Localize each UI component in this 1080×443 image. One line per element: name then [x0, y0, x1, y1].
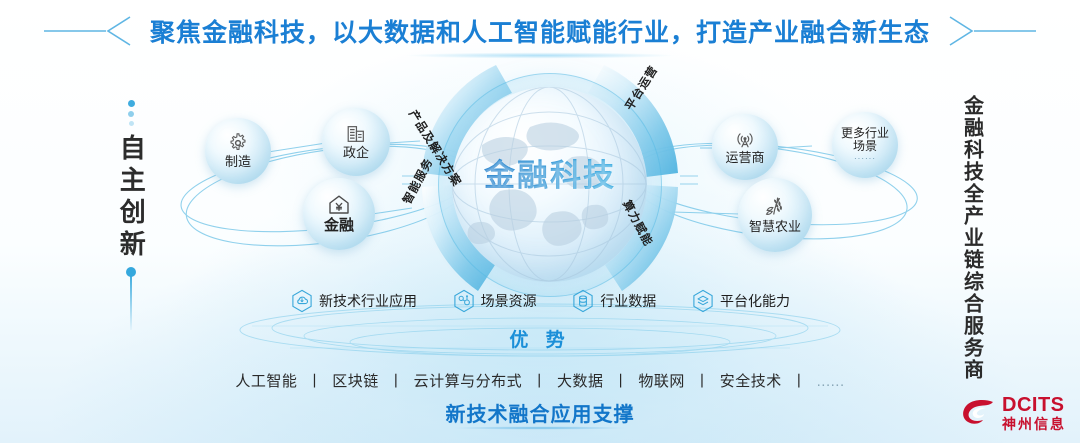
building-icon [345, 123, 367, 145]
tech-item: 人工智能 [235, 373, 297, 390]
industry-bubble-manufacture[interactable]: 制造 [205, 118, 271, 184]
cloud-hex-icon [290, 289, 314, 313]
separator: 丨 [791, 373, 807, 390]
separator: 丨 [532, 373, 548, 390]
tech-item: 大数据 [557, 373, 604, 390]
industry-label: 政企 [343, 146, 369, 160]
dcits-swoosh-icon [962, 398, 996, 428]
foundation-caption: 新技术融合应用支撑 [0, 398, 1080, 427]
wheat-icon [763, 195, 787, 219]
foundation-glow-underline [430, 426, 650, 430]
separator: 丨 [388, 373, 404, 390]
logo-cn-text: 神州信息 [1002, 417, 1066, 431]
industry-bubble-more[interactable]: 更多行业场景 ······ [832, 112, 898, 178]
industry-label: 更多行业场景 [837, 127, 893, 153]
bank-icon [327, 193, 351, 217]
industry-label: 金融 [324, 218, 354, 235]
tech-item: 安全技术 [720, 373, 782, 390]
industry-bubble-government[interactable]: 政企 [322, 108, 390, 176]
layers-hex-icon [691, 289, 715, 313]
separator: 丨 [307, 373, 323, 390]
logo-en-text: DCITS [1002, 395, 1066, 415]
tech-item: 区块链 [332, 373, 379, 390]
capability-row: 新技术行业应用 场景资源 [290, 286, 790, 316]
capability-label: 平台化能力 [720, 291, 790, 311]
separator: 丨 [695, 373, 711, 390]
capability-label: 场景资源 [481, 291, 537, 311]
capability-label: 行业数据 [600, 291, 656, 311]
signal-tower-icon [734, 128, 756, 150]
industry-label: 智慧农业 [749, 220, 801, 234]
database-hex-icon [571, 289, 595, 313]
industry-bubble-operator[interactable]: 运营商 [712, 114, 778, 180]
capability-scenario-resource[interactable]: 场景资源 [452, 289, 537, 313]
tech-item: 云计算与分布式 [414, 373, 523, 390]
capability-new-tech-application[interactable]: 新技术行业应用 [290, 289, 417, 313]
fintech-core: 金融科技 产品及解决方案 智能服务 平台运营 算力赋能 [400, 55, 700, 305]
gear-icon [227, 132, 249, 154]
tech-item: 物联网 [638, 373, 685, 390]
molecule-hex-icon [452, 289, 476, 313]
tech-ellipsis: ...... [817, 373, 845, 390]
industry-label: 运营商 [725, 151, 764, 165]
industry-bubble-agriculture[interactable]: 智慧农业 [738, 178, 812, 252]
ellipsis-decoration: ······ [854, 154, 876, 163]
company-logo: DCITS 神州信息 [962, 391, 1066, 435]
advantage-title: 优 势 [0, 325, 1080, 352]
capability-industry-data[interactable]: 行业数据 [571, 289, 656, 313]
infographic-canvas: 聚焦金融科技，以大数据和人工智能赋能行业，打造产业融合新生态 自主创新 金融科技… [0, 0, 1080, 443]
technology-list: 人工智能 丨 区块链 丨 云计算与分布式 丨 大数据 丨 物联网 丨 安全技术 … [0, 370, 1080, 391]
separator: 丨 [613, 373, 629, 390]
industry-bubble-finance[interactable]: 金融 [303, 178, 375, 250]
industry-label: 制造 [225, 155, 251, 169]
capability-platform-capability[interactable]: 平台化能力 [691, 289, 790, 313]
capability-label: 新技术行业应用 [319, 291, 417, 311]
